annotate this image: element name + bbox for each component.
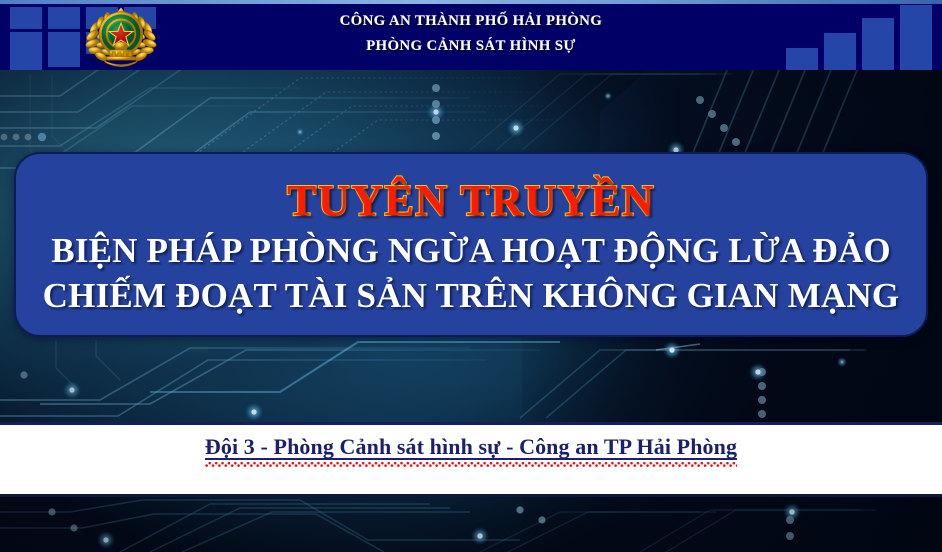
decor-square: [786, 48, 818, 70]
footer-credit-line: Đội 3 - Phòng Cảnh sát hình sự - Công an…: [205, 434, 737, 460]
decor-square: [900, 48, 932, 70]
subtitle-line-2: CHIẾM ĐOẠT TÀI SẢN TRÊN KHÔNG GIAN MẠNG: [43, 273, 900, 318]
page-title: TUYÊN TRUYỀN: [287, 176, 655, 226]
subtitle-line-1: BIỆN PHÁP PHÒNG NGỪA HOẠT ĐỘNG LỪA ĐẢO: [51, 228, 891, 273]
slide-canvas: CÔNG AN THÀNH PHỐ HẢI PHÒNG PHÒNG CẢNH S…: [0, 0, 942, 552]
decor-square: [48, 7, 80, 29]
footer-credit-text: Đội 3 - Phòng Cảnh sát hình sự - Công an…: [205, 434, 737, 459]
decor-square: [824, 48, 856, 70]
decor-square: [10, 58, 42, 70]
vietnam-public-security-emblem-icon: [83, 3, 159, 69]
decor-square: [10, 7, 42, 29]
spellcheck-underline: [205, 462, 737, 467]
main-title-panel: TUYÊN TRUYỀN BIỆN PHÁP PHÒNG NGỪA HOẠT Đ…: [14, 152, 928, 337]
decor-square: [862, 48, 894, 70]
decor-square: [48, 45, 80, 67]
footer-band: Đội 3 - Phòng Cảnh sát hình sự - Công an…: [0, 422, 942, 497]
slide-header: CÔNG AN THÀNH PHỐ HẢI PHÒNG PHÒNG CẢNH S…: [0, 0, 942, 70]
